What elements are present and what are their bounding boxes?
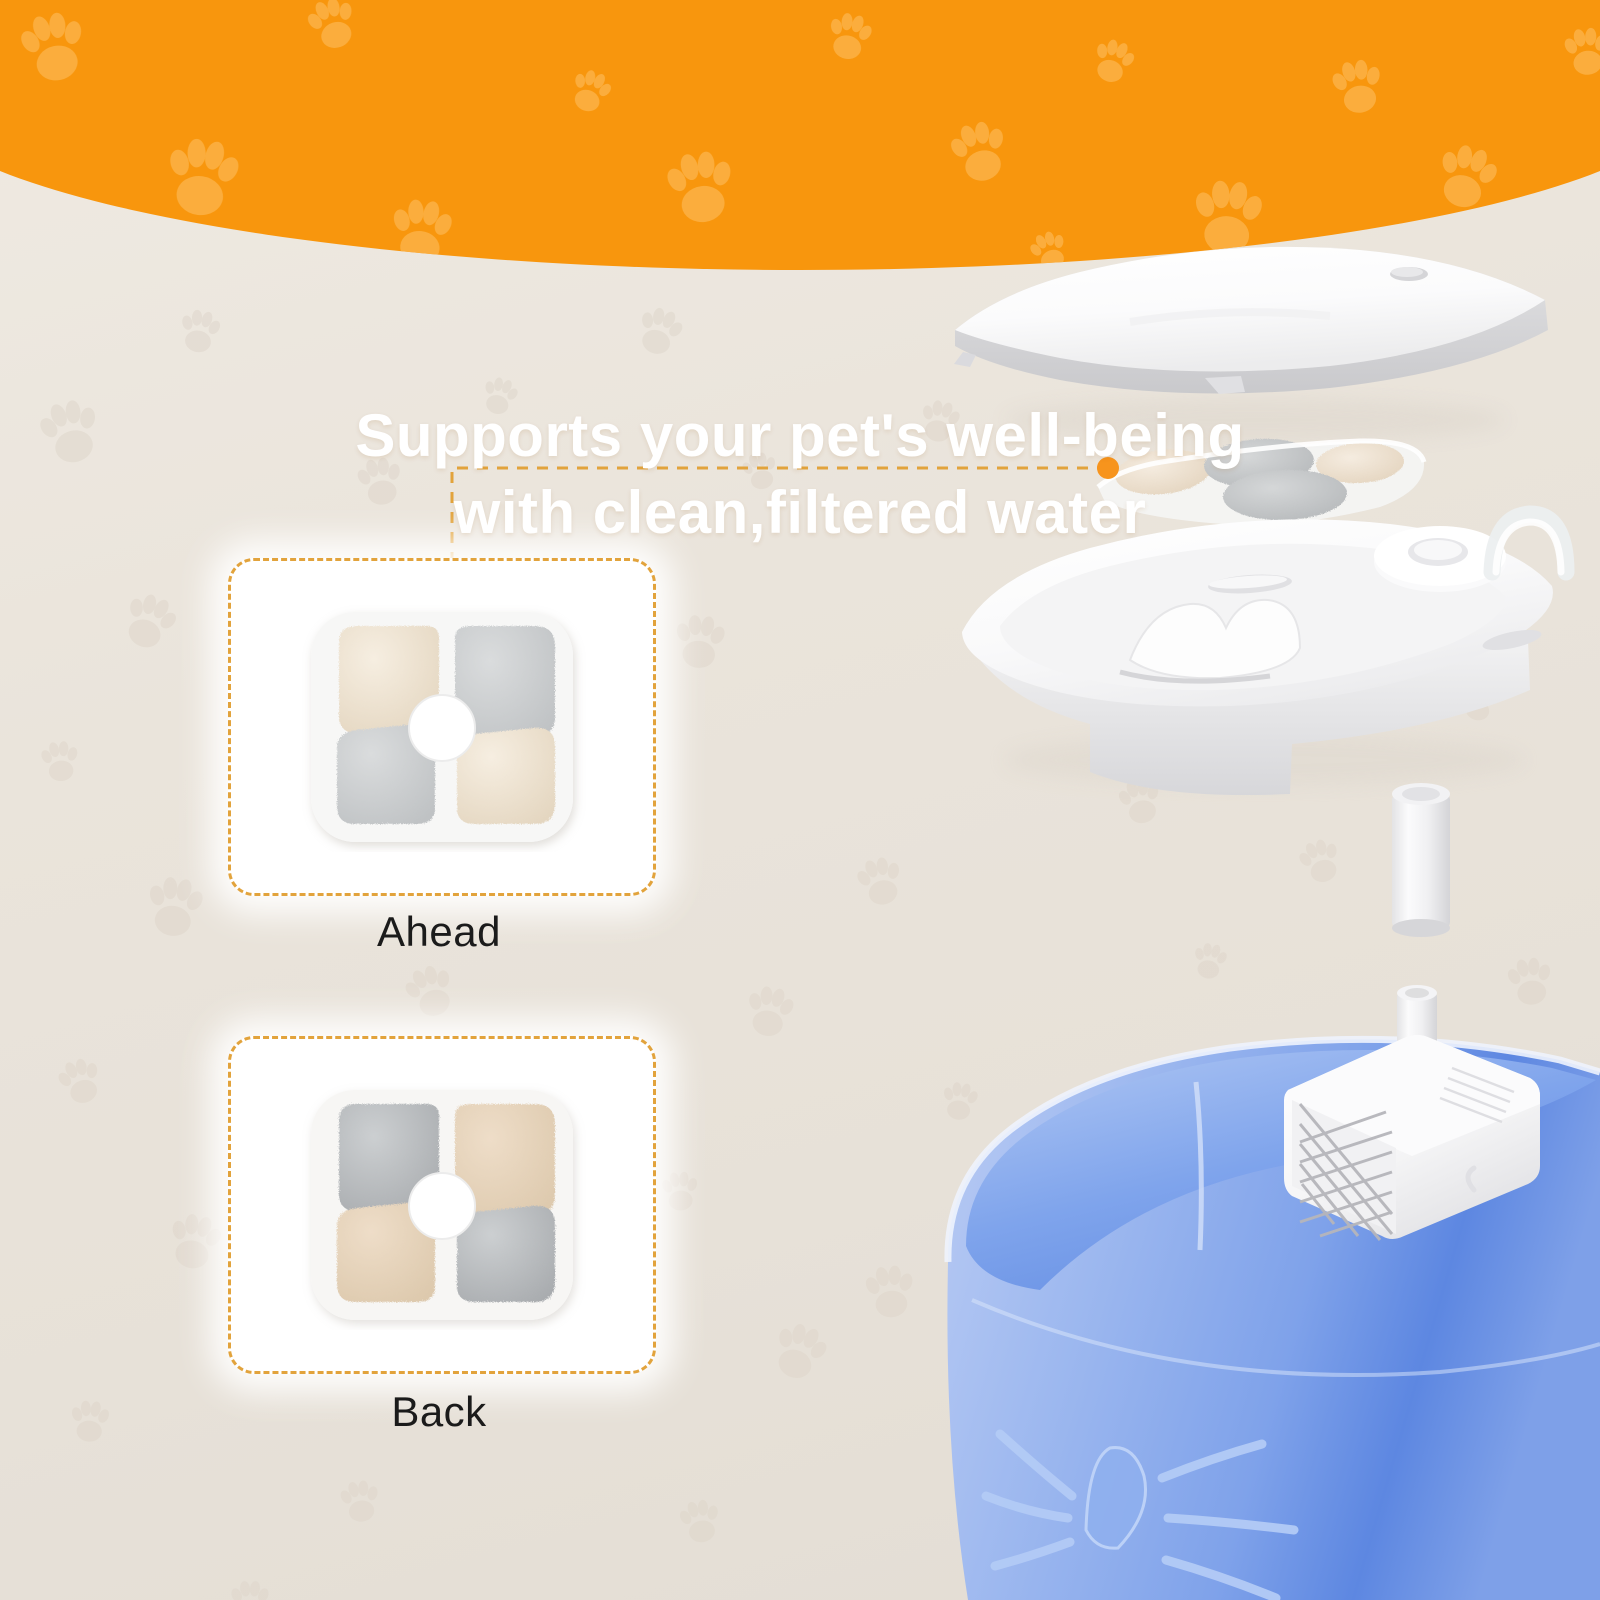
filter-back-label: Back <box>228 1388 650 1436</box>
headline-line-1: Supports your pet's well-being <box>355 402 1244 469</box>
fountain-riser-tube <box>1392 783 1450 937</box>
filter-back-card[interactable] <box>228 1036 656 1374</box>
filter-pad-back-graphic <box>297 1080 587 1330</box>
filter-pad-front-graphic <box>297 602 587 852</box>
filter-ahead-card[interactable] <box>228 558 656 896</box>
filter-ahead-label: Ahead <box>228 908 650 956</box>
headline: Supports your pet's well-being with clea… <box>0 398 1600 552</box>
infographic-canvas: Supports your pet's well-being with clea… <box>0 0 1600 1600</box>
headline-line-2: with clean,filtered water <box>0 475 1600 552</box>
fountain-top-lid <box>954 247 1548 394</box>
